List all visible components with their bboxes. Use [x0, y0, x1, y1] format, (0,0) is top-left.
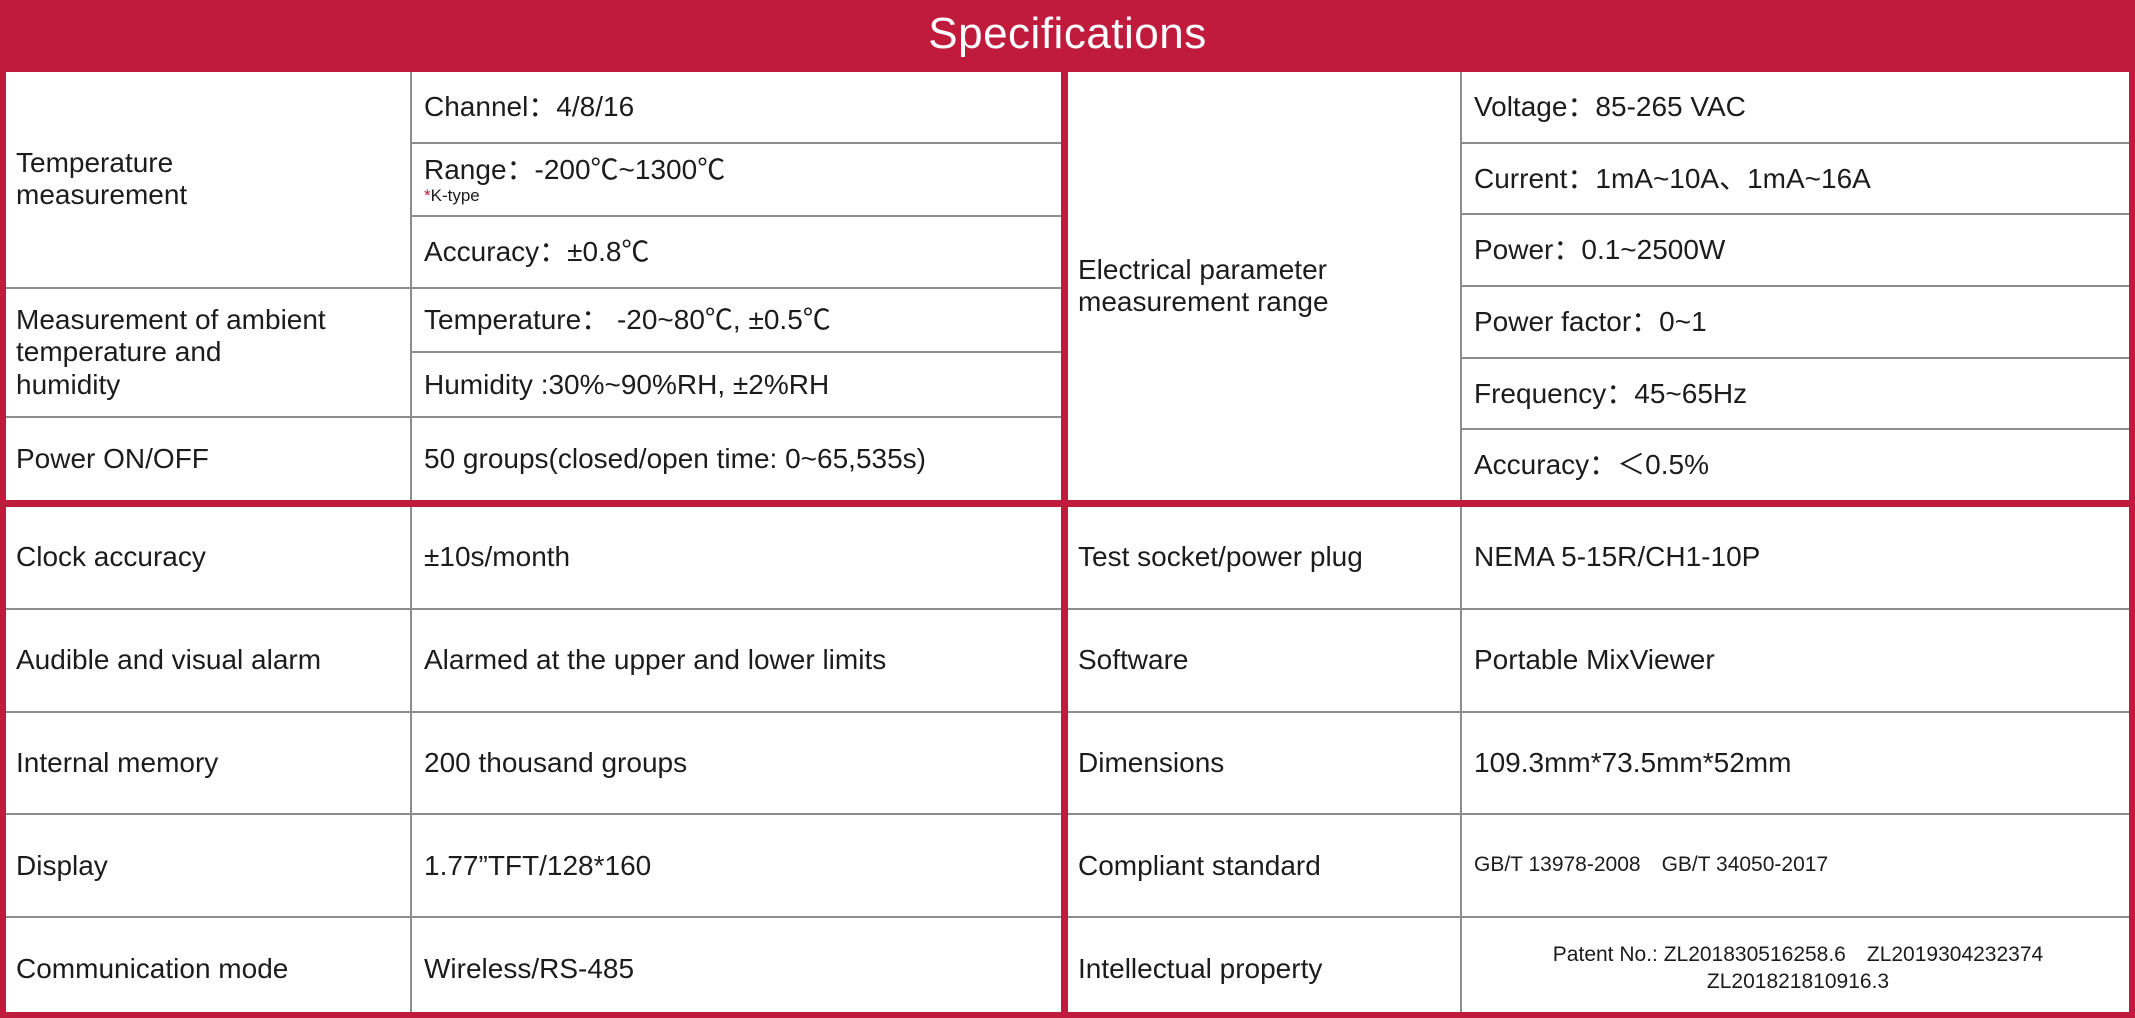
vertical-divider-center-lower [1061, 507, 1068, 1018]
cell-ambient-temperature: Temperature： -20~80℃, ±0.5℃ [424, 304, 831, 336]
lower-section: Clock accuracy ±10s/month Audible and vi… [6, 507, 2129, 1018]
cell-frequency: Frequency：45~65Hz [1474, 378, 1747, 410]
label-line-1: Electrical parameter [1078, 254, 1327, 285]
table-row: Software Portable MixViewer [1068, 610, 2130, 713]
table-row: Power factor：0~1 [1462, 287, 2130, 359]
cell-power: Power：0.1~2500W [1474, 234, 1725, 266]
ambient-rows: Temperature： -20~80℃, ±0.5℃ Humidity :30… [412, 289, 1061, 416]
group-label-temperature-measurement: Temperature measurement [6, 72, 412, 287]
row-label-dimensions: Dimensions [1068, 713, 1462, 814]
table-row: Clock accuracy ±10s/month [6, 507, 1061, 610]
horizontal-divider-middle [6, 500, 2129, 507]
lower-left-half: Clock accuracy ±10s/month Audible and vi… [6, 507, 1061, 1018]
table-row: Display 1.77”TFT/128*160 [6, 815, 1061, 918]
row-label-software: Software [1068, 610, 1462, 711]
label-line-1: Measurement of ambient [16, 304, 326, 335]
row-value-test-socket-power-plug: NEMA 5-15R/CH1-10P [1462, 507, 2130, 608]
table-row: Audible and visual alarm Alarmed at the … [6, 610, 1061, 713]
group-ambient-measurement: Measurement of ambient temperature and h… [6, 289, 1061, 418]
row-label-audible-visual-alarm: Audible and visual alarm [6, 610, 412, 711]
group-label-electrical-parameter: Electrical parameter measurement range [1068, 72, 1462, 500]
cell-range-note-text: K-type [431, 186, 480, 205]
electrical-parameter-rows: Voltage：85-265 VAC Current：1mA~10A、1mA~1… [1462, 72, 2130, 500]
table-row: Intellectual property Patent No.: ZL2018… [1068, 918, 2130, 1018]
vertical-divider-center [1061, 72, 1068, 500]
label-line-2: measurement range [1078, 286, 1329, 317]
label-line-1: Temperature [16, 147, 173, 178]
row-label-intellectual-property: Intellectual property [1068, 918, 1462, 1018]
cell-power-factor: Power factor：0~1 [1474, 306, 1707, 338]
group-label-ambient-measurement: Measurement of ambient temperature and h… [6, 289, 412, 416]
cell-channel: Channel：4/8/16 [424, 91, 634, 123]
table-row: 50 groups(closed/open time: 0~65,535s) [412, 418, 1061, 500]
cell-range: Range：-200℃~1300℃ [424, 154, 725, 185]
cell-electrical-accuracy: Accuracy：＜0.5% [1474, 449, 1709, 481]
group-power-on-off: Power ON/OFF 50 groups(closed/open time:… [6, 418, 1061, 500]
cell-ambient-humidity: Humidity :30%~90%RH, ±2%RH [424, 369, 829, 401]
table-row: Compliant standard GB/T 13978-2008 GB/T … [1068, 815, 2130, 918]
table-row: Accuracy：＜0.5% [1462, 430, 2130, 500]
lower-right-half: Test socket/power plug NEMA 5-15R/CH1-10… [1068, 507, 2130, 1018]
table-row: Internal memory 200 thousand groups [6, 713, 1061, 816]
row-value-dimensions: 109.3mm*73.5mm*52mm [1462, 713, 2130, 814]
lower-left-rows: Clock accuracy ±10s/month Audible and vi… [6, 507, 1061, 1018]
table-row: Humidity :30%~90%RH, ±2%RH [412, 353, 1061, 415]
patent-line-2: ZL201821810916.3 [1707, 969, 1889, 996]
temperature-group-stack: Temperature measurement Channel：4/8/16 R… [6, 72, 1061, 500]
label-line-3: humidity [16, 369, 120, 400]
label-line-1: Power ON/OFF [16, 443, 209, 475]
row-label-communication-mode: Communication mode [6, 918, 412, 1018]
upper-section: Temperature measurement Channel：4/8/16 R… [6, 72, 2129, 500]
page-title: Specifications [928, 12, 1206, 60]
power-on-off-rows: 50 groups(closed/open time: 0~65,535s) [412, 418, 1061, 500]
row-value-communication-mode: Wireless/RS-485 [412, 918, 1061, 1018]
row-label-internal-memory: Internal memory [6, 713, 412, 814]
temperature-rows: Channel：4/8/16 Range：-200℃~1300℃ *K-type… [412, 72, 1061, 287]
cell-power-on-off-groups: 50 groups(closed/open time: 0~65,535s) [424, 443, 926, 475]
table-row: Frequency：45~65Hz [1462, 359, 2130, 431]
table-row: Communication mode Wireless/RS-485 [6, 918, 1061, 1018]
row-label-display: Display [6, 815, 412, 916]
table-row: Channel：4/8/16 [412, 72, 1061, 144]
row-label-clock-accuracy: Clock accuracy [6, 507, 412, 608]
label-line-2: temperature and [16, 336, 221, 367]
table-row: Voltage：85-265 VAC [1462, 72, 2130, 144]
row-value-compliant-standard: GB/T 13978-2008 GB/T 34050-2017 [1462, 815, 2130, 916]
cell-current: Current：1mA~10A、1mA~16A [1474, 163, 1871, 195]
asterisk-marker: * [424, 186, 431, 205]
table-row: Power：0.1~2500W [1462, 215, 2130, 287]
upper-right-half: Electrical parameter measurement range V… [1068, 72, 2130, 500]
table-row: Temperature： -20~80℃, ±0.5℃ [412, 289, 1061, 353]
group-label-power-on-off: Power ON/OFF [6, 418, 412, 500]
cell-voltage: Voltage：85-265 VAC [1474, 91, 1746, 123]
row-label-test-socket-power-plug: Test socket/power plug [1068, 507, 1462, 608]
label-line-2: measurement [16, 179, 187, 210]
row-value-software: Portable MixViewer [1462, 610, 2130, 711]
row-value-clock-accuracy: ±10s/month [412, 507, 1061, 608]
lower-right-rows: Test socket/power plug NEMA 5-15R/CH1-10… [1068, 507, 2130, 1018]
upper-left-half: Temperature measurement Channel：4/8/16 R… [6, 72, 1061, 500]
specifications-table: Specifications Temperature measurement [0, 0, 2135, 1018]
table-row: Current：1mA~10A、1mA~16A [1462, 144, 2130, 216]
table-header-banner: Specifications [6, 0, 2129, 72]
table-row: Dimensions 109.3mm*73.5mm*52mm [1068, 713, 2130, 816]
row-value-display: 1.77”TFT/128*160 [412, 815, 1061, 916]
group-temperature-measurement: Temperature measurement Channel：4/8/16 R… [6, 72, 1061, 289]
row-value-internal-memory: 200 thousand groups [412, 713, 1061, 814]
table-row: Range：-200℃~1300℃ *K-type [412, 144, 1061, 216]
table-row: Accuracy：±0.8℃ [412, 217, 1061, 287]
row-value-audible-visual-alarm: Alarmed at the upper and lower limits [412, 610, 1061, 711]
row-label-compliant-standard: Compliant standard [1068, 815, 1462, 916]
cell-temp-accuracy: Accuracy：±0.8℃ [424, 236, 649, 268]
cell-range-note: *K-type [424, 187, 725, 206]
patent-line-1: Patent No.: ZL201830516258.6 ZL201930423… [1553, 942, 2043, 969]
row-value-intellectual-property: Patent No.: ZL201830516258.6 ZL201930423… [1462, 918, 2130, 1018]
table-row: Test socket/power plug NEMA 5-15R/CH1-10… [1068, 507, 2130, 610]
